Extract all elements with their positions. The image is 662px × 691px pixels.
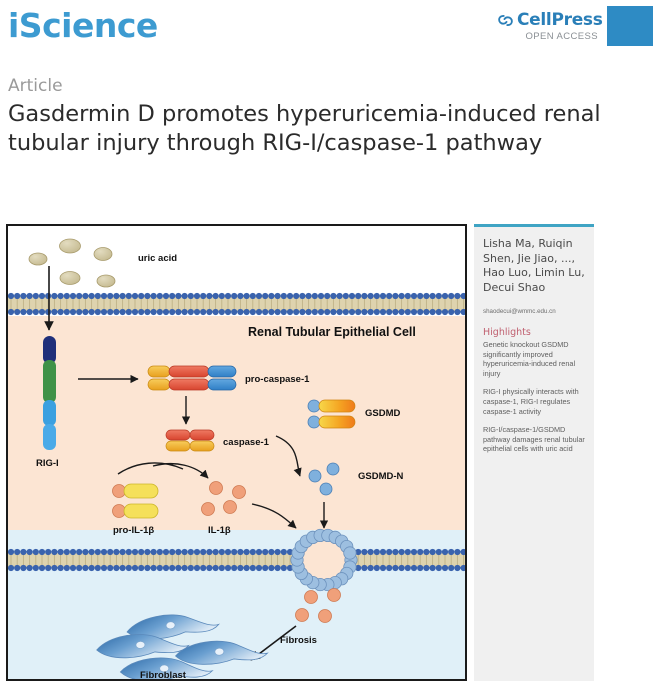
label-fibrosis: Fibrosis (280, 635, 317, 646)
cellpress-wordmark: CellPress (517, 10, 603, 30)
gsdmd-pore (291, 529, 357, 591)
correspondence-email[interactable]: shaodecui@wmmc.edu.cn (483, 307, 585, 316)
open-access-label: OPEN ACCESS (497, 31, 599, 42)
paper-graphical-abstract-page: iScience CellPress OPEN ACCESS Article G… (0, 0, 662, 691)
figure-panel: uric acid Renal Tubular Epithelial Cell … (6, 224, 467, 681)
label-renal-tubular-epithelial-cell: Renal Tubular Epithelial Cell (248, 325, 416, 339)
highlight-item: RIG-I/caspase-1/GSDMD pathway damages re… (483, 425, 585, 454)
rig-i-protein (43, 336, 56, 450)
label-pro-caspase-1: pro-caspase-1 (245, 374, 310, 385)
abstract-sidebar: Lisha Ma, Ruiqin Shen, Jie Jiao, ..., Ha… (474, 224, 594, 681)
label-pro-il1b: pro-IL-1β (113, 525, 154, 536)
label-gsdmd-n: GSDMD-N (358, 471, 404, 482)
page-title: Gasdermin D promotes hyperuricemia-induc… (8, 100, 608, 158)
article-type-kicker: Article (8, 76, 63, 96)
label-il1b: IL-1β (208, 525, 231, 536)
highlights-heading: Highlights (483, 327, 585, 338)
membrane-top-lipids (8, 293, 465, 315)
highlight-item: Genetic knockout GSDMD significantly imp… (483, 340, 585, 378)
label-rig-i: RIG-I (36, 458, 59, 469)
pathway-diagram: uric acid Renal Tubular Epithelial Cell … (8, 226, 465, 679)
cellpress-logo: CellPress OPEN ACCESS (497, 10, 599, 50)
journal-logo: iScience (8, 6, 158, 45)
chain-link-icon (497, 12, 514, 29)
page-header: iScience CellPress OPEN ACCESS (0, 0, 662, 62)
label-fibroblast: Fibroblast (140, 670, 187, 679)
label-gsdmd: GSDMD (365, 408, 401, 419)
label-caspase-1: caspase-1 (223, 437, 270, 448)
highlight-item: RIG-I physically interacts with caspase-… (483, 387, 585, 416)
membrane-bottom-lipids (8, 549, 465, 571)
brand-color-block (607, 6, 653, 46)
label-uric-acid: uric acid (138, 253, 177, 264)
author-list: Lisha Ma, Ruiqin Shen, Jie Jiao, ..., Ha… (483, 237, 585, 295)
